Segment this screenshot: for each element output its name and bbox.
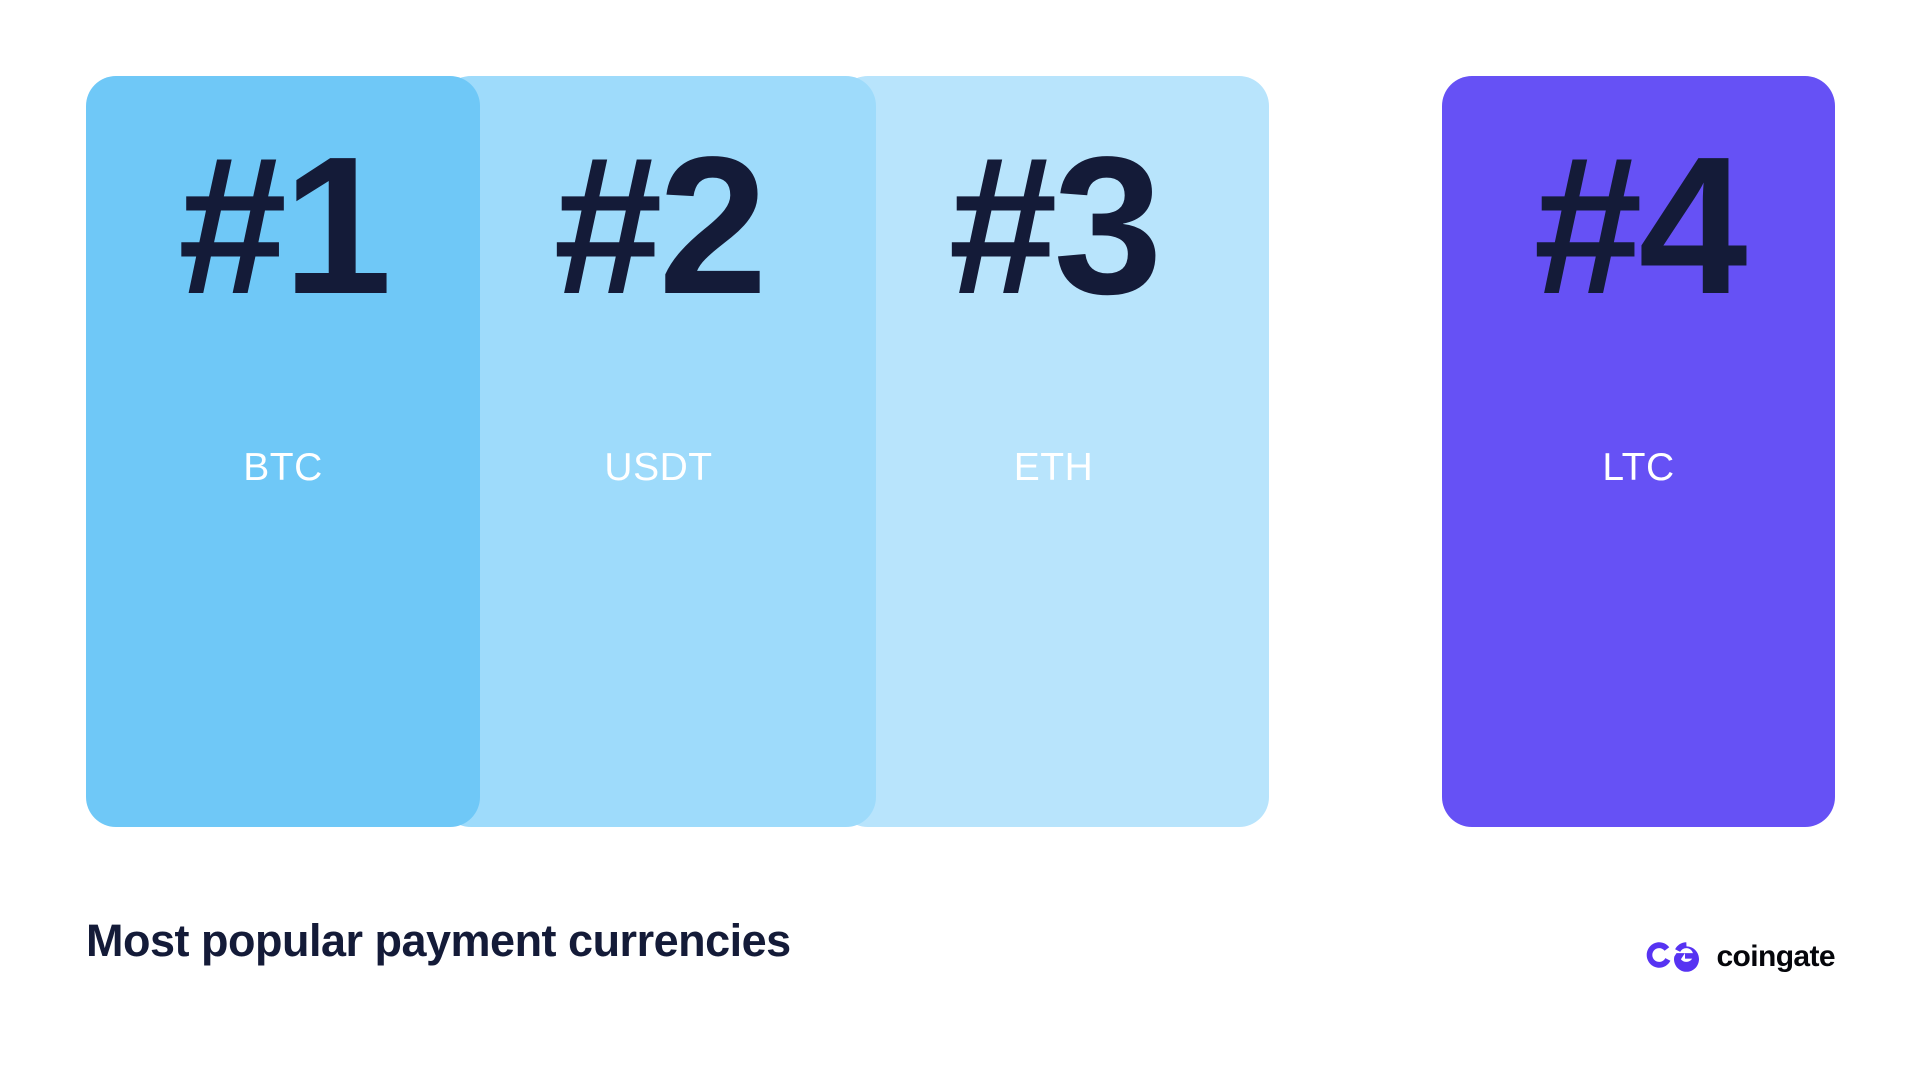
rank-ticker-1: BTC bbox=[86, 448, 480, 487]
rank-ticker-4: LTC bbox=[1442, 448, 1835, 487]
page-title: Most popular payment currencies bbox=[86, 918, 791, 963]
coingate-cg-logo-icon bbox=[1646, 941, 1700, 973]
rank-ticker-2: USDT bbox=[441, 448, 876, 487]
rank-ticker-3: ETH bbox=[838, 448, 1269, 487]
rank-card-2[interactable]: #2 USDT bbox=[441, 76, 876, 827]
rank-card-1[interactable]: #1 BTC bbox=[86, 76, 480, 827]
rank-number-2: #2 bbox=[441, 128, 876, 324]
infographic-canvas: #4 LTC #3 ETH #2 USDT #1 BTC Most popula… bbox=[0, 0, 1920, 1080]
rank-number-1: #1 bbox=[86, 128, 480, 324]
ranking-cards-row: #4 LTC #3 ETH #2 USDT #1 BTC bbox=[0, 0, 1920, 900]
coingate-logo[interactable]: coingate bbox=[1646, 935, 1835, 979]
rank-card-4[interactable]: #4 LTC bbox=[1442, 76, 1835, 827]
rank-number-3: #3 bbox=[838, 128, 1269, 324]
rank-card-3[interactable]: #3 ETH bbox=[838, 76, 1269, 827]
rank-number-4: #4 bbox=[1442, 128, 1835, 324]
brand-wordmark: coingate bbox=[1716, 942, 1835, 972]
